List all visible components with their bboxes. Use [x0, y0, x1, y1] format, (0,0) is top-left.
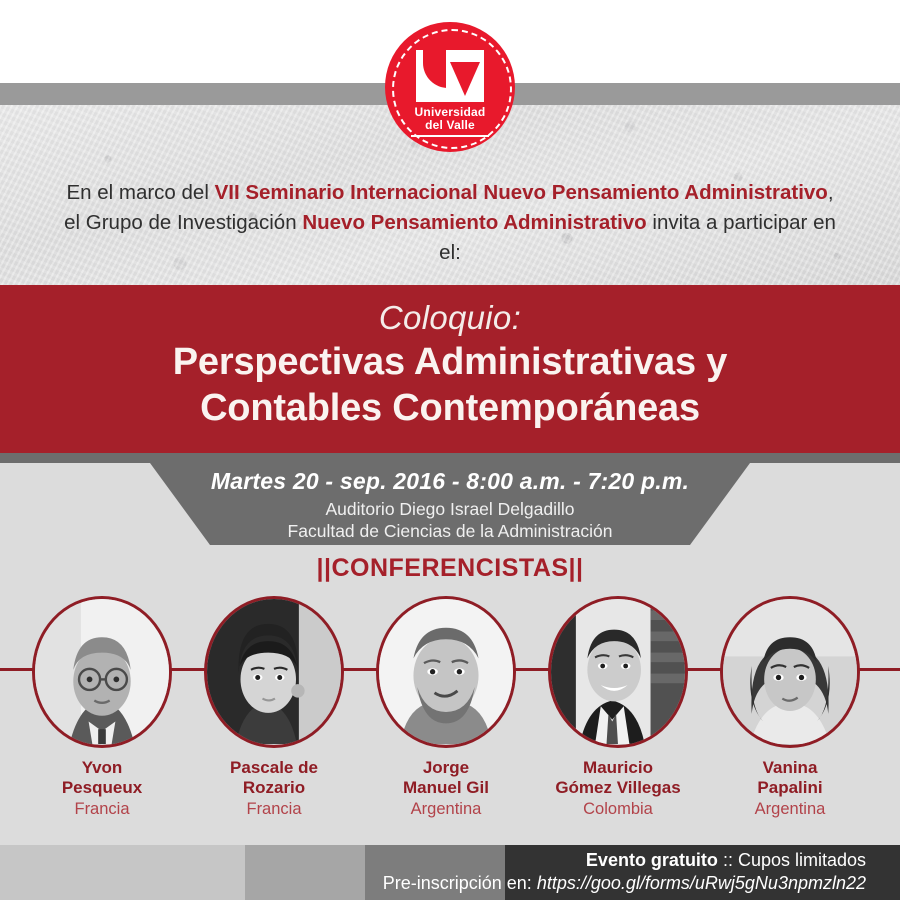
- speaker-country: Francia: [184, 800, 364, 819]
- speaker-name-line-1: Vanina: [763, 758, 818, 777]
- banner-bottom-strip: [0, 453, 900, 463]
- speaker-card: Jorge Manuel Gil Argentina: [366, 596, 526, 748]
- speaker-name: Yvon Pesqueux: [12, 758, 192, 798]
- speaker-portrait-icon: [551, 599, 685, 744]
- speaker-name: Mauricio Gómez Villegas: [528, 758, 708, 798]
- speaker-country: Argentina: [700, 800, 880, 819]
- registration-link[interactable]: https://goo.gl/forms/uRwj5gNu3npmzln22: [537, 873, 866, 893]
- speaker-portrait-icon: [35, 599, 169, 744]
- logo-wordmark: Universidad del Valle: [385, 106, 515, 132]
- speaker-name-line-2: Manuel Gil: [403, 778, 489, 797]
- speaker-portrait-icon: [379, 599, 513, 744]
- speaker-card: Pascale de Rozario Francia: [194, 596, 354, 748]
- footer-registration-label: Pre-inscripción en:: [383, 873, 537, 893]
- footer: Evento gratuito :: Cupos limitados Pre-i…: [0, 845, 900, 900]
- speakers-heading: ||CONFERENCISTAS||: [0, 554, 900, 583]
- speaker-name-line-2: Pesqueux: [62, 778, 142, 797]
- title-banner: Coloquio: Perspectivas Administrativas y…: [0, 285, 900, 453]
- speaker-name: Vanina Papalini: [700, 758, 880, 798]
- banner-title-line-2: Contables Contemporáneas: [200, 387, 700, 429]
- banner-title-line-1: Perspectivas Administrativas y: [173, 341, 727, 383]
- intro-highlight-1: VII Seminario Internacional Nuevo Pensam…: [215, 181, 828, 204]
- intro-paragraph: En el marco del VII Seminario Internacio…: [60, 178, 840, 268]
- footer-free-event-text: Evento gratuito :: Cupos limitados: [586, 850, 866, 871]
- speaker-name-line-2: Rozario: [243, 778, 305, 797]
- speaker-name: Jorge Manuel Gil: [356, 758, 536, 798]
- intro-text-1: En el marco del: [66, 181, 214, 204]
- speaker-name-line-1: Pascale de: [230, 758, 318, 777]
- logo-letter-u: [416, 50, 450, 102]
- speaker-photo: [204, 596, 344, 748]
- universidad-del-valle-logo: Universidad del Valle: [385, 22, 515, 152]
- speaker-photo: [720, 596, 860, 748]
- speaker-name-line-1: Jorge: [423, 758, 469, 777]
- banner-kicker: Coloquio:: [0, 299, 900, 337]
- speaker-portrait-icon: [723, 599, 857, 744]
- speaker-card: Mauricio Gómez Villegas Colombia: [538, 596, 698, 748]
- logo-uv-monogram-icon: [416, 50, 484, 102]
- logo-line-1: Universidad: [415, 105, 486, 119]
- speaker-name-line-2: Gómez Villegas: [555, 778, 680, 797]
- event-poster: Universidad del Valle En el marco del VI…: [0, 0, 900, 900]
- banner-title: Perspectivas Administrativas y Contables…: [0, 339, 900, 431]
- logo-line-2: del Valle: [425, 118, 475, 132]
- speaker-photo: [548, 596, 688, 748]
- speaker-card: Yvon Pesqueux Francia: [22, 596, 182, 748]
- speaker-name-line-2: Papalini: [757, 778, 822, 797]
- speaker-photo: [376, 596, 516, 748]
- footer-registration: Pre-inscripción en: https://goo.gl/forms…: [383, 873, 866, 894]
- speaker-photo: [32, 596, 172, 748]
- speaker-portrait-icon: [207, 599, 341, 744]
- speaker-country: Argentina: [356, 800, 536, 819]
- footer-limited-slots: :: Cupos limitados: [718, 850, 866, 870]
- intro-highlight-2: Nuevo Pensamiento Administrativo: [302, 211, 646, 234]
- speaker-name: Pascale de Rozario: [184, 758, 364, 798]
- speaker-country: Colombia: [528, 800, 708, 819]
- speaker-country: Francia: [12, 800, 192, 819]
- logo-underline: [411, 135, 489, 137]
- speaker-card: Vanina Papalini Argentina: [710, 596, 870, 748]
- logo-letter-v: [446, 50, 484, 102]
- speaker-name-line-1: Mauricio: [583, 758, 653, 777]
- footer-free-label: Evento gratuito: [586, 850, 718, 870]
- speaker-name-line-1: Yvon: [82, 758, 123, 777]
- speakers-list: Yvon Pesqueux Francia: [0, 596, 900, 836]
